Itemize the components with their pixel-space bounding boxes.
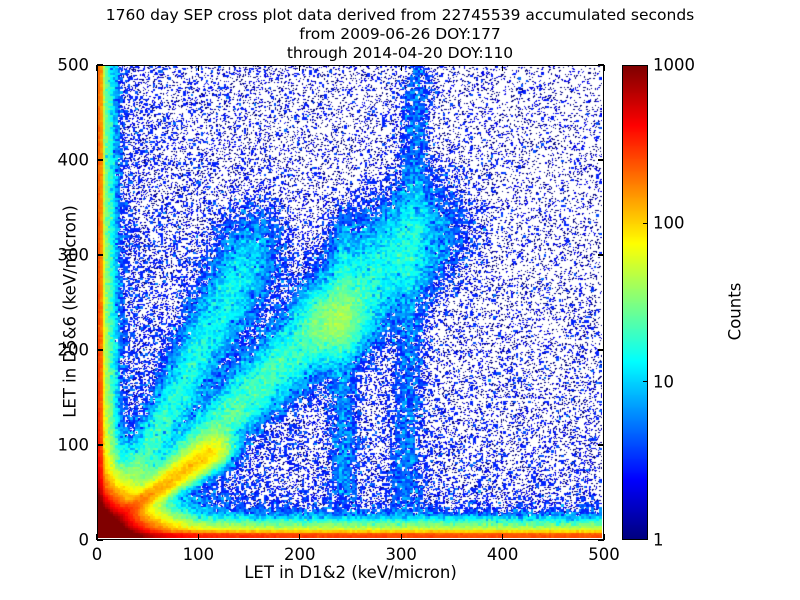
colorbar-label: Counts	[726, 212, 745, 412]
y-tick-left	[97, 64, 103, 65]
y-tick-right	[598, 539, 604, 540]
x-tick-label: 100	[183, 545, 215, 564]
title-line-2: from 2009-06-26 DOY:177	[0, 25, 800, 44]
y-tick-right	[598, 64, 604, 65]
y-tick-right	[598, 444, 604, 445]
x-tick-bottom	[502, 534, 503, 540]
y-tick-right	[598, 349, 604, 350]
colorbar-tick-label: 10	[653, 372, 674, 391]
x-tick-top	[502, 65, 503, 71]
x-tick-label: 0	[92, 545, 103, 564]
x-tick-top	[603, 65, 604, 71]
x-tick-label: 200	[284, 545, 316, 564]
y-tick-label: 400	[31, 151, 89, 170]
colorbar-tick	[643, 223, 648, 224]
y-tick-right	[598, 254, 604, 255]
colorbar-tick-label: 1	[653, 531, 664, 550]
density-heatmap	[98, 66, 602, 538]
x-tick-label: 400	[487, 545, 519, 564]
y-tick-left	[97, 444, 103, 445]
y-tick-left	[97, 159, 103, 160]
x-tick-label: 500	[588, 545, 620, 564]
colorbar-tick-label: 100	[653, 214, 685, 233]
figure-canvas: 1760 day SEP cross plot data derived fro…	[0, 0, 800, 600]
y-tick-label: 0	[31, 531, 89, 550]
colorbar-tick	[643, 381, 648, 382]
y-axis-label: LET in D5&6 (keV/micron)	[61, 182, 80, 442]
y-tick-left	[97, 349, 103, 350]
x-tick-bottom	[198, 534, 199, 540]
x-tick-top	[198, 65, 199, 71]
y-tick-left	[97, 254, 103, 255]
x-tick-top	[96, 65, 97, 71]
plot-axes	[97, 65, 604, 540]
colorbar	[622, 65, 648, 540]
x-tick-bottom	[401, 534, 402, 540]
y-tick-label: 500	[31, 56, 89, 75]
colorbar-gradient	[623, 66, 647, 539]
x-tick-top	[299, 65, 300, 71]
x-axis-label: LET in D1&2 (keV/micron)	[97, 563, 604, 582]
colorbar-tick-label: 1000	[653, 56, 695, 75]
title-line-1: 1760 day SEP cross plot data derived fro…	[0, 6, 800, 25]
x-tick-bottom	[299, 534, 300, 540]
y-tick-left	[97, 539, 103, 540]
x-tick-top	[401, 65, 402, 71]
plot-title: 1760 day SEP cross plot data derived fro…	[0, 6, 800, 63]
y-tick-right	[598, 159, 604, 160]
x-tick-label: 300	[385, 545, 417, 564]
